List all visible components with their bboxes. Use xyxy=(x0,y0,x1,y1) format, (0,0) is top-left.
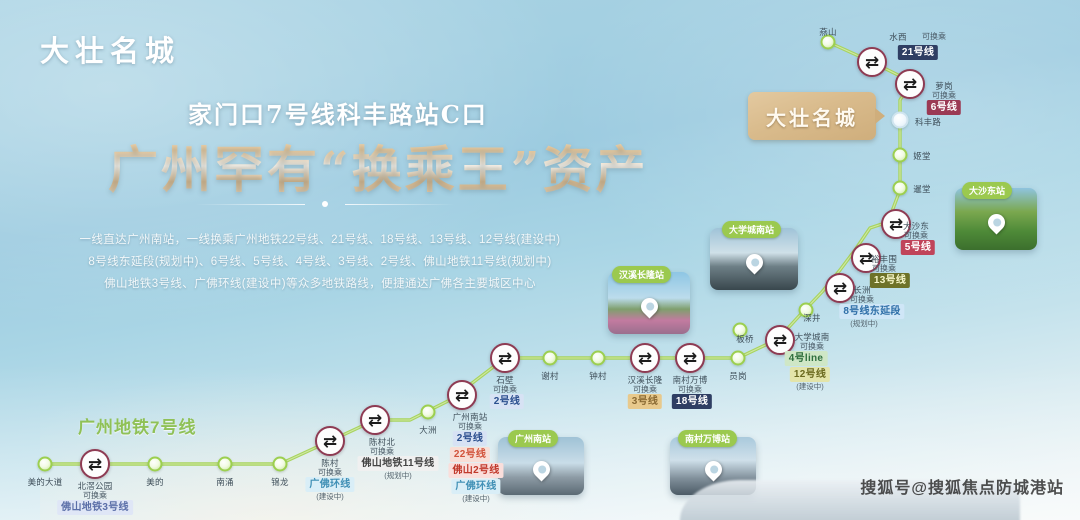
line-badge: 12号线 xyxy=(790,367,830,382)
station-label: 深井 xyxy=(803,312,820,324)
station-label: 姬堂 xyxy=(913,150,930,162)
line-status-note: (建设中) xyxy=(316,491,344,502)
transfer-station-icon[interactable]: ⇄ xyxy=(630,343,660,373)
line-badge: 18号线 xyxy=(672,394,712,409)
station-label: 水西 xyxy=(889,31,906,43)
station-label: 美的大道 xyxy=(28,476,63,488)
line-badge: 2号线 xyxy=(490,394,524,409)
line-badge: 13号线 xyxy=(870,273,910,288)
transfer-station-icon[interactable]: ⇄ xyxy=(447,380,477,410)
line-badge: 6号线 xyxy=(927,100,961,115)
line-badge: 佛山2号线 xyxy=(448,463,503,478)
transfer-station-icon[interactable]: ⇄ xyxy=(675,343,705,373)
station-label: 美的 xyxy=(146,476,163,488)
metro-line-map: 广州地铁7号线 大壮名城 汉溪长隆站 大学城南站 广州南站 南村万博站 xyxy=(0,0,1080,520)
line-title: 广州地铁7号线 xyxy=(78,413,196,438)
station-label: 员岗 xyxy=(729,370,746,382)
line-status-note: (规划中) xyxy=(850,318,878,329)
station-node[interactable] xyxy=(218,457,233,472)
home-plaque-label: 大壮名城 xyxy=(766,102,858,131)
transfer-word: 可换乘 xyxy=(922,31,946,42)
line-badge: 22号线 xyxy=(450,447,490,462)
line-badge: 佛山地铁3号线 xyxy=(57,500,133,515)
transfer-station-icon[interactable]: ⇄ xyxy=(80,449,110,479)
transfer-station-icon[interactable]: ⇄ xyxy=(895,69,925,99)
station-node[interactable] xyxy=(893,148,908,163)
station-label: 科丰路 xyxy=(915,116,941,128)
line-badge: 4号line xyxy=(785,351,828,366)
photo-card-tag-guangzhounan: 广州南站 xyxy=(508,430,558,447)
station-node[interactable] xyxy=(38,457,53,472)
transfer-station-icon[interactable]: ⇄ xyxy=(315,426,345,456)
station-label: 锦龙 xyxy=(271,476,288,488)
line-badge: 广佛环线 xyxy=(451,479,500,494)
line-badge: 21号线 xyxy=(898,45,938,60)
watermark: 搜狐号@搜狐焦点防城港站 xyxy=(860,474,1064,498)
line-badge: 8号线东延段 xyxy=(839,304,904,319)
station-label: 暹堂 xyxy=(913,183,930,195)
photo-card-tag-dashadong: 大沙东站 xyxy=(962,182,1012,199)
station-label: 钟村 xyxy=(589,370,606,382)
transfer-station-icon[interactable]: ⇄ xyxy=(490,343,520,373)
poster-canvas: 大壮名城 家门口7号线科丰路站C口 广州罕有“换乘王”资产 一线直达广州南站，一… xyxy=(0,0,1080,520)
line-badge: 广佛环线 xyxy=(305,477,354,492)
line-badge: 3号线 xyxy=(628,394,662,409)
station-node[interactable] xyxy=(148,457,163,472)
station-label: 南涌 xyxy=(216,476,233,488)
photo-card-tag-hanxichanglong: 汉溪长隆站 xyxy=(612,266,671,283)
home-station-node[interactable] xyxy=(892,112,909,129)
station-node[interactable] xyxy=(421,405,436,420)
line-badge: 佛山地铁11号线 xyxy=(358,456,439,471)
line-badge: 2号线 xyxy=(453,431,487,446)
station-node[interactable] xyxy=(731,351,746,366)
station-label: 板桥 xyxy=(736,333,753,345)
station-node[interactable] xyxy=(273,457,288,472)
station-label: 大洲 xyxy=(419,424,436,436)
home-plaque: 大壮名城 xyxy=(748,92,876,140)
photo-card-tag-daxuechengnan: 大学城南站 xyxy=(722,221,781,238)
transfer-station-icon[interactable]: ⇄ xyxy=(360,405,390,435)
station-node[interactable] xyxy=(543,351,558,366)
station-node[interactable] xyxy=(591,351,606,366)
station-label: 谢村 xyxy=(541,370,558,382)
line-badge: 5号线 xyxy=(901,240,935,255)
photo-card-tag-nancunwanbo: 南村万博站 xyxy=(678,430,737,447)
line-status-note: (建设中) xyxy=(462,493,490,504)
line-status-note: (建设中) xyxy=(796,381,824,392)
line-status-note: (规划中) xyxy=(384,470,412,481)
station-label: 燕山 xyxy=(819,26,836,38)
station-node[interactable] xyxy=(893,181,908,196)
transfer-station-icon[interactable]: ⇄ xyxy=(857,47,887,77)
